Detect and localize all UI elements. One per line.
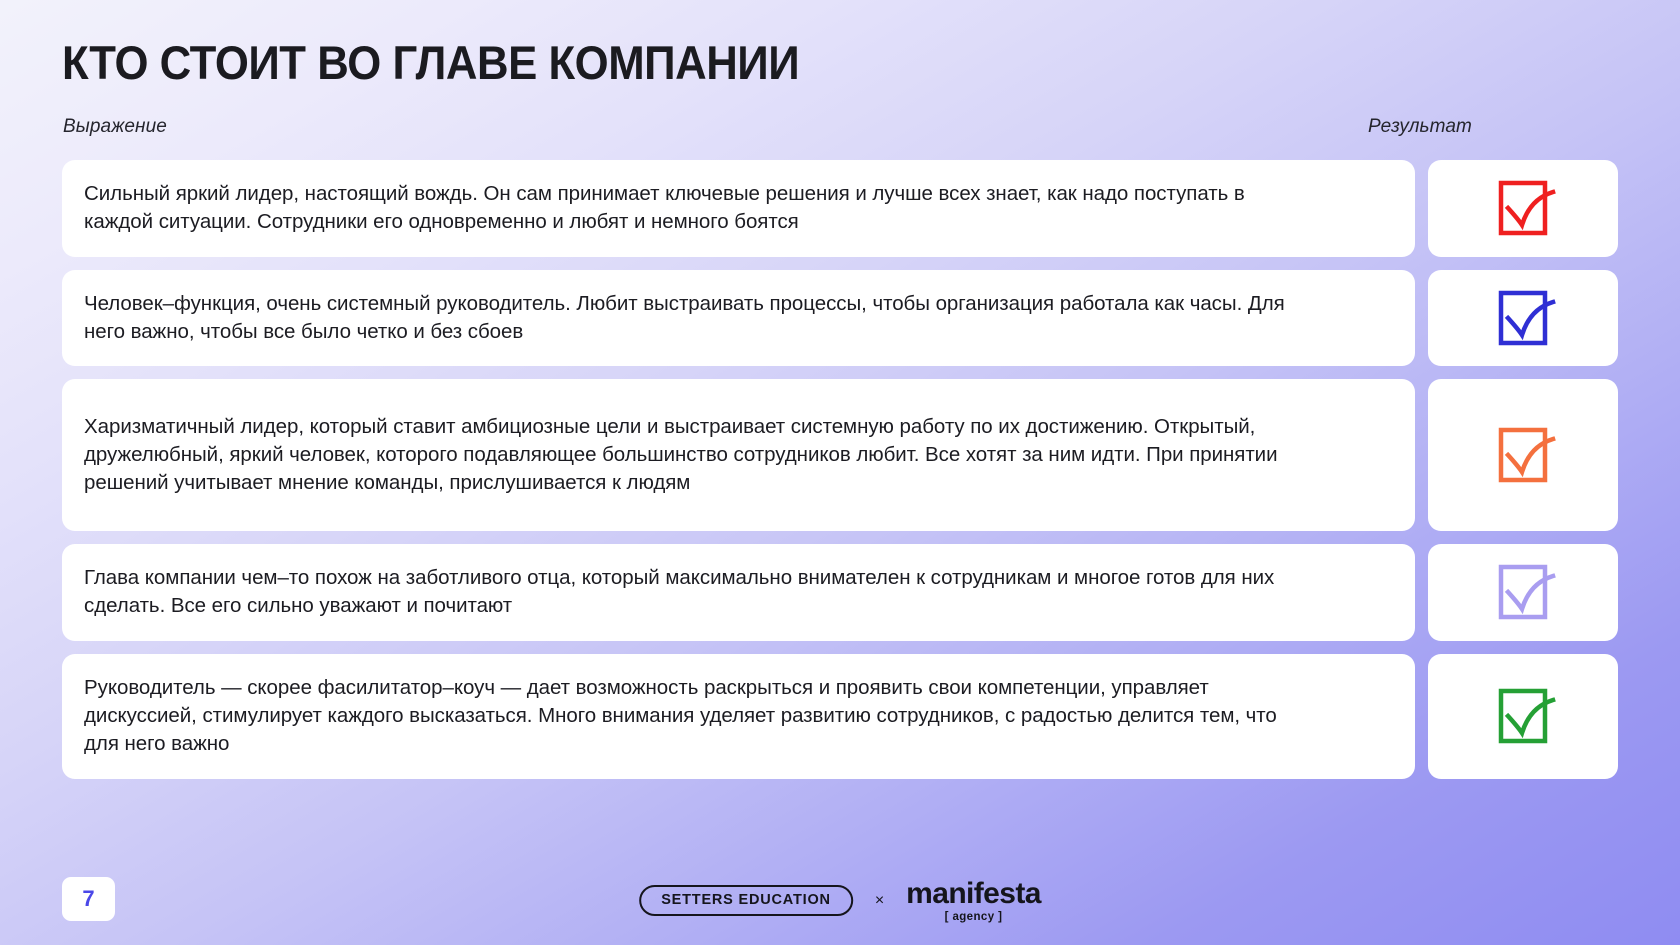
brand-separator-icon: × <box>875 892 884 910</box>
statement-cell: Руководитель — скорее фасилитатор–коуч —… <box>62 654 1415 779</box>
statement-text: Руководитель — скорее фасилитатор–коуч —… <box>84 674 1289 759</box>
statement-cell: Харизматичный лидер, который ставит амби… <box>62 379 1415 531</box>
statement-text: Сильный яркий лидер, настоящий вождь. Он… <box>84 180 1289 237</box>
result-cell <box>1428 160 1618 257</box>
brand-lockup: SETTERS EDUCATION × manifesta [ agency ] <box>639 879 1041 924</box>
slide-root: КТО СТОИТ ВО ГЛАВЕ КОМПАНИИ Выражение Ре… <box>0 0 1680 945</box>
checkbox-check-icon <box>1489 683 1557 749</box>
result-cell <box>1428 654 1618 779</box>
result-cell <box>1428 379 1618 531</box>
checkbox-check-icon <box>1489 285 1557 351</box>
page-title: КТО СТОИТ ВО ГЛАВЕ КОМПАНИИ <box>62 38 799 87</box>
statement-table: Сильный яркий лидер, настоящий вождь. Он… <box>62 160 1618 779</box>
page-number-badge: 7 <box>62 877 115 921</box>
checkbox-check-icon <box>1489 422 1557 488</box>
checkbox-check-icon <box>1489 175 1557 241</box>
column-header-result: Результат <box>1320 116 1520 138</box>
statement-cell: Человек–функция, очень системный руковод… <box>62 270 1415 367</box>
table-row: Сильный яркий лидер, настоящий вождь. Он… <box>62 160 1618 257</box>
column-header-expression: Выражение <box>63 116 167 138</box>
table-row: Харизматичный лидер, который ставит амби… <box>62 379 1618 531</box>
statement-cell: Глава компании чем–то похож на заботливо… <box>62 544 1415 641</box>
manifesta-wordmark: manifesta <box>906 879 1041 909</box>
statement-text: Харизматичный лидер, который ставит амби… <box>84 413 1289 498</box>
table-row: Глава компании чем–то похож на заботливо… <box>62 544 1618 641</box>
statement-cell: Сильный яркий лидер, настоящий вождь. Он… <box>62 160 1415 257</box>
result-cell <box>1428 544 1618 641</box>
statement-text: Глава компании чем–то похож на заботливо… <box>84 564 1289 621</box>
manifesta-sublabel: [ agency ] <box>945 912 1003 924</box>
setters-education-logo: SETTERS EDUCATION <box>639 885 853 916</box>
table-row: Человек–функция, очень системный руковод… <box>62 270 1618 367</box>
table-row: Руководитель — скорее фасилитатор–коуч —… <box>62 654 1618 779</box>
checkbox-check-icon <box>1489 559 1557 625</box>
slide-footer: 7 SETTERS EDUCATION × manifesta [ agency… <box>0 853 1680 945</box>
statement-text: Человек–функция, очень системный руковод… <box>84 290 1289 347</box>
manifesta-logo: manifesta [ agency ] <box>906 879 1041 924</box>
result-cell <box>1428 270 1618 367</box>
